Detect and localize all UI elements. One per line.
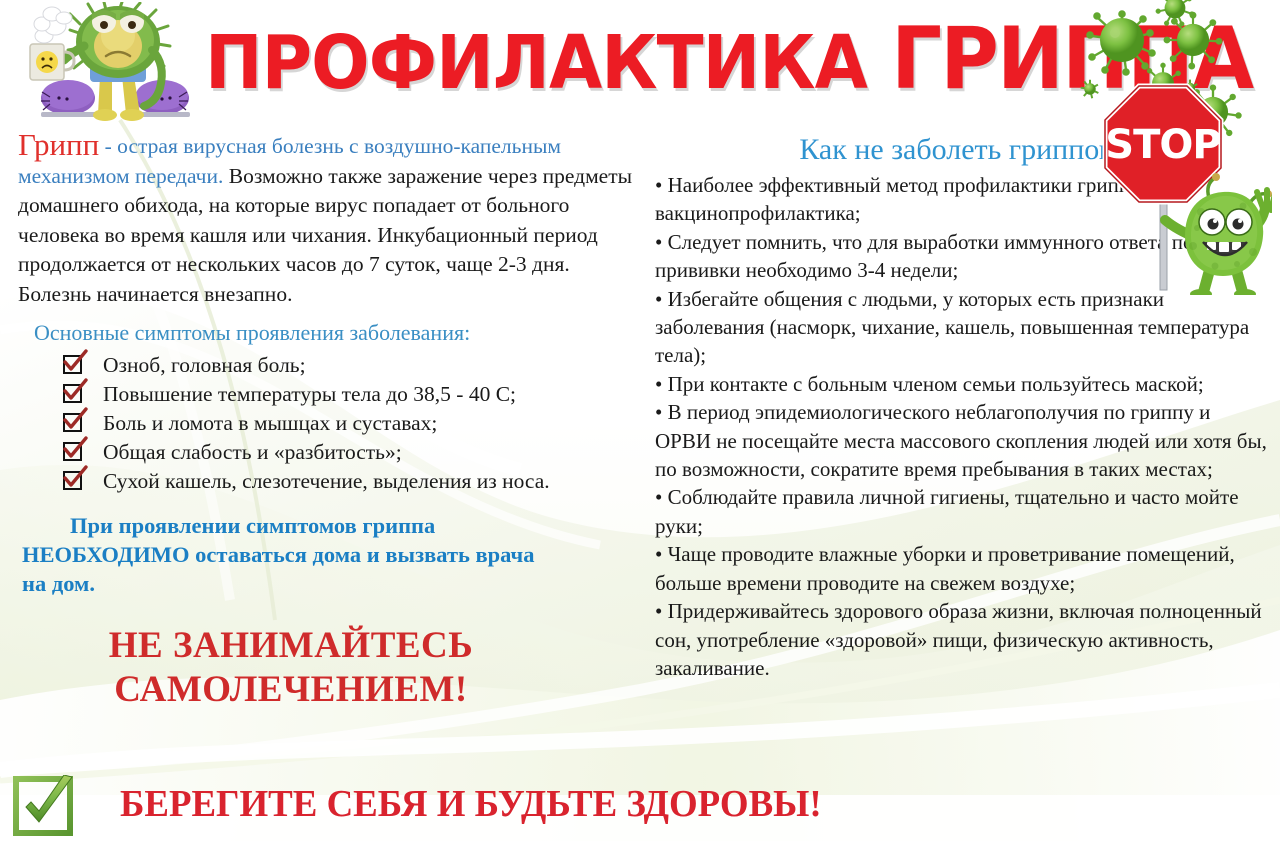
stop-sign-germ-illustration: STOP	[1097, 80, 1272, 295]
symptom-label: Боль и ломота в мышцах и суставах;	[103, 411, 437, 435]
symptom-label: Общая слабость и «разбитость»;	[103, 440, 402, 464]
list-item: Озноб, головная боль;	[103, 351, 636, 379]
poster-root: ПРОФИЛАКТИКАГРИППА	[0, 0, 1280, 841]
doctor-warning: При проявлении симптомов гриппа НЕОБХОДИ…	[18, 511, 636, 598]
alert-line-2: САМОЛЕЧЕНИЕМ!	[114, 669, 468, 710]
list-item: • Избегайте общения с людьми, у которых …	[655, 285, 1270, 370]
bottom-slogan: БЕРЕГИТЕ СЕБЯ И БУДЬТЕ ЗДОРОВЫ!	[120, 779, 1090, 829]
intro-term: Грипп	[18, 127, 99, 162]
symptoms-heading: Основные симптомы проявления заболевания…	[34, 319, 636, 347]
checkmark-icon	[61, 349, 89, 377]
no-self-medication-alert: НЕ ЗАНИМАЙТЕСЬ САМОЛЕЧЕНИЕМ!	[18, 624, 636, 712]
list-item: Сухой кашель, слезотечение, выделения из…	[103, 467, 636, 495]
bottom-banner: БЕРЕГИТЕ СЕБЯ И БУДЬТЕ ЗДОРОВЫ!	[0, 771, 1280, 841]
left-column: Грипп - острая вирусная болезнь с воздуш…	[18, 130, 636, 712]
checkmark-icon	[61, 436, 89, 464]
list-item: Боль и ломота в мышцах и суставах;	[103, 409, 636, 437]
warning-line-2: НЕОБХОДИМО оставаться дома и вызвать вра…	[22, 542, 534, 567]
list-item: • При контакте с больным членом семьи по…	[655, 370, 1270, 398]
list-item: • Соблюдайте правила личной гигиены, тща…	[655, 483, 1270, 540]
symptom-label: Повышение температуры тела до 38,5 - 40 …	[103, 382, 516, 406]
title-word-prevention: ПРОФИЛАКТИКА	[205, 20, 867, 106]
symptom-label: Озноб, головная боль;	[103, 353, 306, 377]
intro-paragraph: Грипп - острая вирусная болезнь с воздуш…	[18, 130, 636, 309]
list-item: • Придерживайтесь здорового образа жизни…	[655, 597, 1270, 682]
symptom-label: Сухой кашель, слезотечение, выделения из…	[103, 469, 550, 493]
green-checkbox-icon	[12, 775, 76, 837]
alert-line-1: НЕ ЗАНИМАЙТЕСЬ	[109, 625, 473, 666]
symptoms-list: Озноб, головная боль; Повышение температ…	[18, 351, 636, 495]
checkmark-icon	[61, 465, 89, 493]
stop-sign-text: STOP	[1105, 122, 1220, 168]
poster-header: ПРОФИЛАКТИКАГРИППА	[0, 0, 1280, 130]
list-item: • В период эпидемиологического неблагопо…	[655, 398, 1270, 483]
checkmark-icon	[61, 407, 89, 435]
sick-monster-mascot-icon	[22, 2, 202, 126]
list-item: • Чаще проводите влажные уборки и провет…	[655, 540, 1270, 597]
checkmark-icon	[61, 378, 89, 406]
page-title: ПРОФИЛАКТИКАГРИППА	[205, 17, 1042, 105]
list-item: Повышение температуры тела до 38,5 - 40 …	[103, 380, 636, 408]
list-item: Общая слабость и «разбитость»;	[103, 438, 636, 466]
warning-line-3: на дом.	[22, 571, 95, 596]
warning-line-1: При проявлении симптомов гриппа	[70, 513, 435, 538]
